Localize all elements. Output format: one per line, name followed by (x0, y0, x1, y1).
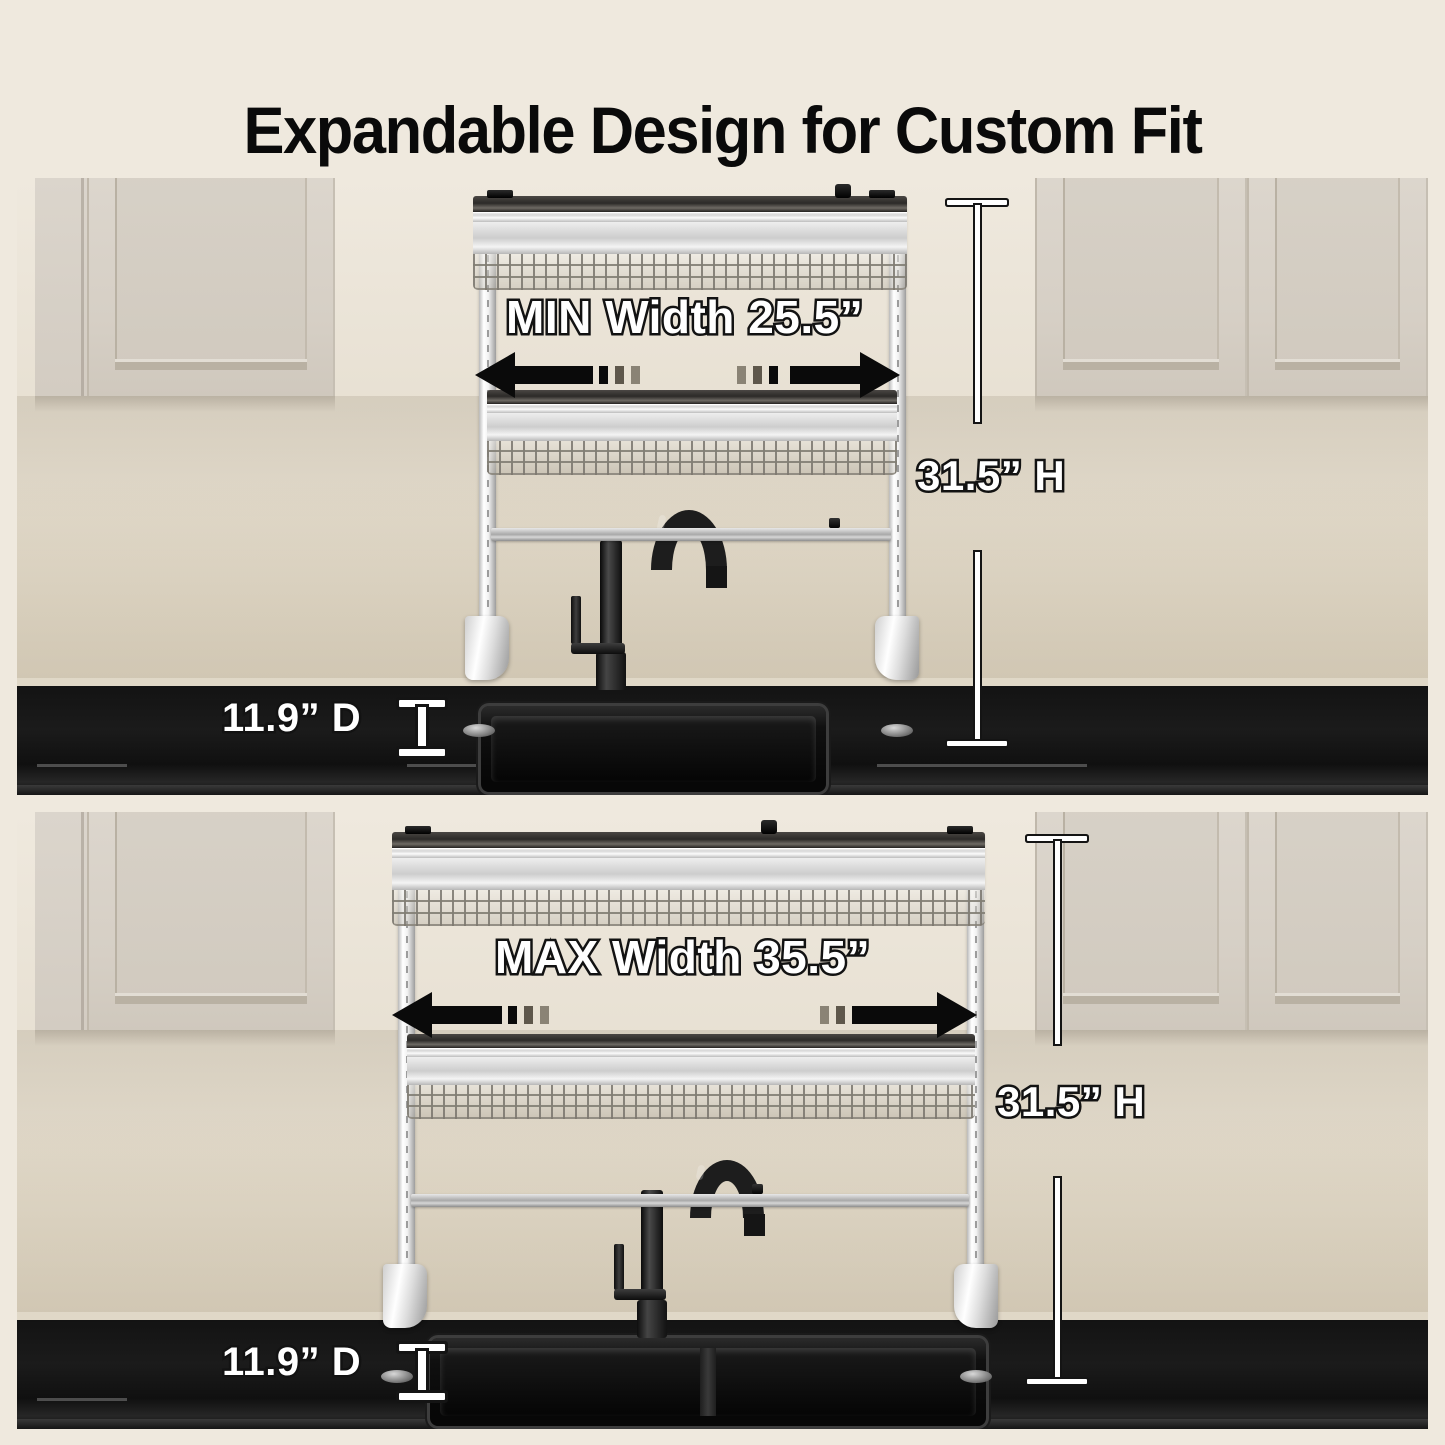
dim-cap-bottom (1027, 1379, 1087, 1384)
wire-rail (407, 1094, 975, 1096)
height-dim-upper-min (947, 200, 1007, 422)
dim-stem (1055, 841, 1060, 1044)
faucet (672, 1160, 782, 1338)
arrow-bar-right (861, 1006, 939, 1024)
ibeam-stem (418, 707, 426, 749)
rack-foot-right (954, 1264, 998, 1328)
cabinet-door-right-2 (1247, 812, 1428, 1030)
shelf-wire-basket (392, 890, 985, 926)
wire-rail (473, 264, 907, 266)
page-title: Expandable Design for Custom Fit (51, 94, 1395, 167)
arrow-tick (599, 366, 608, 384)
counter-highlight (37, 1398, 127, 1401)
height-dim-lower-max (1027, 1178, 1087, 1384)
min-width-label: MIN Width 25.5” (506, 290, 863, 344)
depth-indicator-min (399, 700, 445, 756)
rack-shelf-middle (407, 1034, 975, 1124)
wire-rail (392, 900, 985, 902)
cabinet-left (35, 812, 335, 1030)
cabinet-panel-inset (1063, 178, 1219, 370)
shelf-wire-basket (487, 441, 897, 475)
arrow-tick (820, 1006, 829, 1024)
faucet-base (637, 1300, 667, 1338)
dim-stem (1055, 1178, 1060, 1379)
shelf-tray-top (473, 196, 907, 212)
shelf-adjust-knob-top[interactable] (835, 184, 851, 198)
faucet-handle-lever[interactable] (571, 596, 581, 644)
dim-stem (975, 552, 980, 741)
width-arrow-min (475, 352, 900, 398)
wire-rail (392, 912, 985, 914)
shelf-endcap-left (405, 826, 431, 834)
cabinet-panel-inset (1275, 178, 1400, 370)
shelf-wire-basket (473, 254, 907, 290)
ibeam-cap-top (399, 1344, 445, 1351)
counter-highlight (37, 764, 127, 767)
panel-min-width: MIN Width 25.5” 31.5” H 11.9” D (17, 178, 1428, 795)
cabinet-edge (81, 812, 84, 1030)
rack-shelf-top (473, 196, 907, 294)
ibeam-cap-bottom (399, 749, 445, 756)
arrow-tick (769, 366, 778, 384)
rack-crossbar (491, 528, 891, 541)
foot-pad-left (463, 724, 495, 737)
cabinet-door-left (87, 178, 335, 396)
shelf-chrome-body (473, 222, 907, 254)
crossbar-adjust-knob[interactable] (829, 518, 840, 528)
height-dim-upper-max (1027, 836, 1087, 1044)
shelf-chrome-band (473, 212, 907, 222)
ibeam-cap-bottom (399, 1393, 445, 1400)
shelf-chrome-band (487, 404, 897, 413)
shelf-endcap-right (869, 190, 895, 198)
rack-foot-right (875, 616, 919, 680)
cabinet-edge (81, 178, 84, 396)
ibeam-cap-top (399, 700, 445, 707)
faucet-handle-arm[interactable] (614, 1289, 666, 1300)
shelf-chrome-band (392, 848, 985, 858)
sink-double-bowl (430, 1338, 986, 1426)
arrow-tick (852, 1006, 861, 1024)
rack-crossbar (411, 1194, 969, 1207)
arrow-tick (540, 1006, 549, 1024)
panel-max-width: MAX Width 35.5” 31.5” H 11.9” D (17, 812, 1428, 1429)
arrow-tick (631, 366, 640, 384)
shelf-adjust-knob-top[interactable] (761, 820, 777, 834)
arrow-head-right-icon (937, 992, 977, 1038)
arrow-bar-left (430, 1006, 502, 1024)
ibeam-stem (418, 1351, 426, 1393)
shelf-chrome-body (392, 858, 985, 890)
faucet-handle-arm[interactable] (571, 643, 625, 654)
shelf-chrome-body (407, 1057, 975, 1085)
sink-basin (491, 716, 816, 782)
arrow-head-left-icon (392, 992, 432, 1038)
depth-label-min: 11.9” D (222, 696, 361, 741)
rack-shelf-middle (487, 390, 897, 480)
arrow-head-right-icon (860, 352, 900, 398)
wire-rail (487, 450, 897, 452)
faucet-base (596, 652, 626, 690)
dim-cap-bottom (947, 741, 1007, 746)
cabinet-panel-inset (1275, 812, 1400, 1004)
cabinet-left (35, 178, 335, 396)
depth-label-max: 11.9” D (222, 1340, 361, 1385)
faucet-spout (744, 1214, 765, 1236)
rack-shelf-top (392, 832, 985, 930)
arrow-head-left-icon (475, 352, 515, 398)
cabinet-panel-inset (115, 178, 307, 370)
dim-stem (975, 205, 980, 422)
arrow-bar-left (513, 366, 593, 384)
crossbar-adjust-knob[interactable] (752, 1184, 763, 1194)
sink-divider (700, 1348, 716, 1416)
cabinet-door-right-2 (1247, 178, 1428, 396)
arrow-tick (753, 366, 762, 384)
arrow-tick (836, 1006, 845, 1024)
faucet-column (600, 540, 622, 660)
wire-rail (407, 1105, 975, 1107)
shelf-wire-basket (407, 1085, 975, 1119)
shelf-chrome-body (487, 413, 897, 441)
arrow-tick (524, 1006, 533, 1024)
arrow-bar-right (790, 366, 862, 384)
cabinet-right (1035, 812, 1428, 1030)
sink-single-bowl (481, 706, 826, 792)
cabinet-right (1035, 178, 1428, 396)
infographic-root: Expandable Design for Custom Fit (0, 0, 1445, 1445)
shelf-chrome-band (407, 1048, 975, 1057)
cabinet-panel-inset (115, 812, 307, 1004)
foot-pad-right (960, 1370, 992, 1383)
faucet-spout (706, 566, 727, 588)
height-dim-lower-min (947, 552, 1007, 746)
faucet-handle-lever[interactable] (614, 1244, 624, 1290)
depth-indicator-max (399, 1344, 445, 1400)
shelf-endcap-left (487, 190, 513, 198)
height-label-max: 31.5” H (997, 1078, 1145, 1126)
cabinet-door-right-1 (1035, 178, 1247, 396)
arrow-tick (737, 366, 746, 384)
arrow-tick (615, 366, 624, 384)
width-arrow-max (392, 992, 977, 1038)
rack-foot-left (465, 616, 509, 680)
rack-foot-left (383, 1264, 427, 1328)
wire-rail (473, 276, 907, 278)
counter-highlight (877, 764, 1087, 767)
shelf-endcap-right (947, 826, 973, 834)
max-width-label: MAX Width 35.5” (495, 930, 870, 984)
foot-pad-right (881, 724, 913, 737)
arrow-tick (508, 1006, 517, 1024)
wire-rail (487, 461, 897, 463)
shelf-tray-top (392, 832, 985, 848)
height-label-min: 31.5” H (917, 452, 1065, 500)
cabinet-door-left (87, 812, 335, 1030)
